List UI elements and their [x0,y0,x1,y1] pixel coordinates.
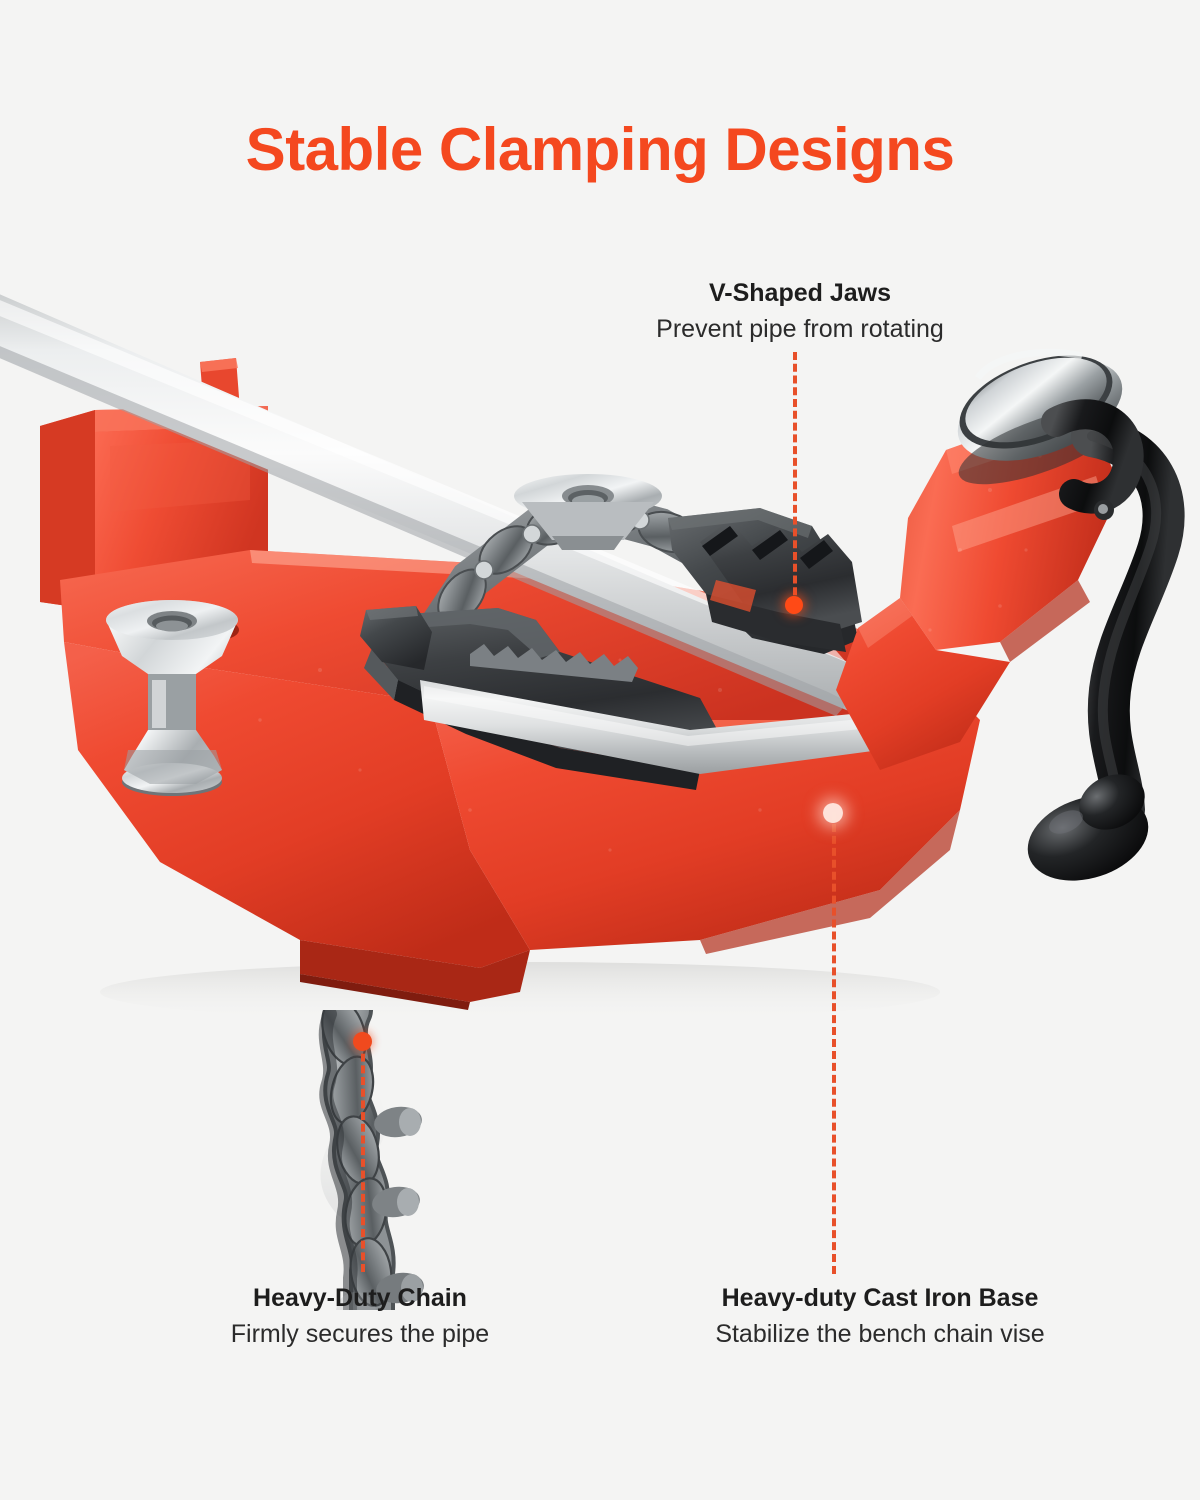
leader-dot-chain [353,1032,372,1051]
callout-cast-iron-base: Heavy-duty Cast Iron Base Stabilize the … [575,1283,1185,1351]
callout-subtext: Prevent pipe from rotating [495,313,1105,346]
leader-dot-base [823,803,843,823]
page-title: Stable Clamping Designs [0,118,1200,181]
callout-subtext: Stabilize the bench chain vise [575,1318,1185,1351]
leader-dot-jaws [785,596,803,614]
callout-heading: Heavy-Duty Chain [80,1283,640,1314]
callout-v-shaped-jaws: V-Shaped Jaws Prevent pipe from rotating [495,278,1105,346]
callout-heading: Heavy-duty Cast Iron Base [575,1283,1185,1314]
infographic-canvas: Stable Clamping Designs [0,0,1200,1500]
callout-heavy-duty-chain: Heavy-Duty Chain Firmly secures the pipe [80,1283,640,1351]
leader-line-chain [361,1042,365,1272]
product-photo-bench-chain-vise [0,250,1200,1310]
callout-heading: V-Shaped Jaws [495,278,1105,309]
leader-line-base [832,812,836,1274]
leader-line-jaws [793,352,797,607]
callout-subtext: Firmly secures the pipe [80,1318,640,1351]
